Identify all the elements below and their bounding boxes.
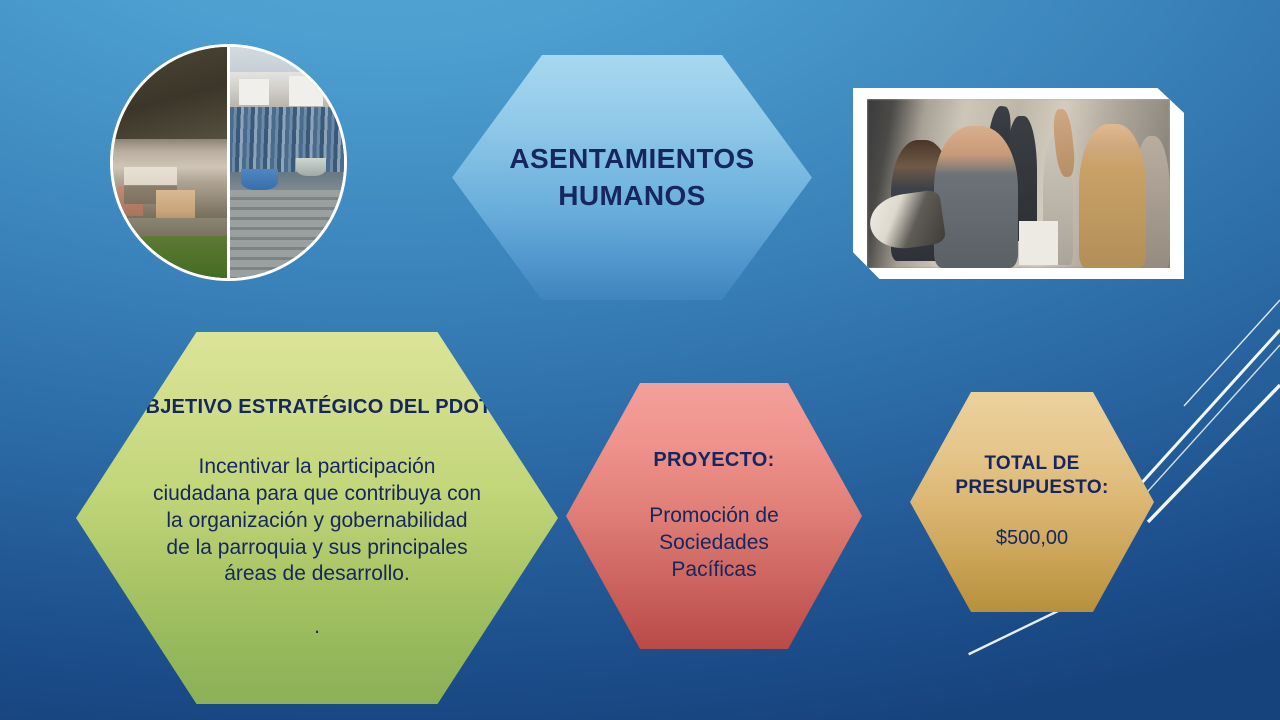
- budget-hexagon: TOTAL DE PRESUPUESTO: $500,00: [910, 392, 1154, 612]
- title-hexagon: ASENTAMIENTOS HUMANOS: [452, 55, 812, 300]
- village-photo-half: [113, 47, 227, 278]
- hillside: [113, 47, 227, 139]
- protester-5: [1079, 124, 1146, 268]
- harbor-photo-half: [230, 47, 344, 278]
- budget-heading: TOTAL DE PRESUPUESTO:: [910, 452, 1154, 500]
- crowd-demonstration-photo: [867, 99, 1170, 268]
- harbor-scene: [230, 47, 344, 278]
- objective-heading: OBJETIVO ESTRATÉGICO DEL PDOT :: [130, 395, 504, 420]
- objective-body: Incentivar la participación ciudadana pa…: [152, 454, 482, 588]
- project-body: Promoción de Sociedades Pacíficas: [622, 502, 807, 584]
- photo-divider: [227, 47, 230, 278]
- objective-trailing-mark: .: [314, 614, 320, 641]
- dock-planks: [230, 190, 344, 278]
- protest-sign: [1019, 221, 1058, 265]
- protester-2: [934, 126, 1019, 268]
- grass-field: [113, 236, 227, 278]
- blue-boat: [241, 169, 278, 190]
- project-hexagon: PROYECTO: Promoción de Sociedades Pacífi…: [566, 383, 862, 649]
- village-scene: [113, 47, 227, 278]
- coastal-buildings: [230, 72, 344, 109]
- slide-title: ASENTAMIENTOS HUMANOS: [452, 141, 812, 215]
- white-boat: [296, 158, 326, 176]
- moored-boats: [230, 107, 344, 172]
- budget-amount: $500,00: [996, 526, 1068, 552]
- objective-hexagon: OBJETIVO ESTRATÉGICO DEL PDOT : Incentiv…: [76, 332, 558, 704]
- presentation-slide: ASENTAMIENTOS HUMANOS OBJETIVO ESTRATÉGI…: [0, 0, 1280, 720]
- protest-photo-frame: [853, 88, 1184, 279]
- project-heading: PROYECTO:: [653, 449, 774, 472]
- village-harbor-circle-photo: [113, 47, 344, 278]
